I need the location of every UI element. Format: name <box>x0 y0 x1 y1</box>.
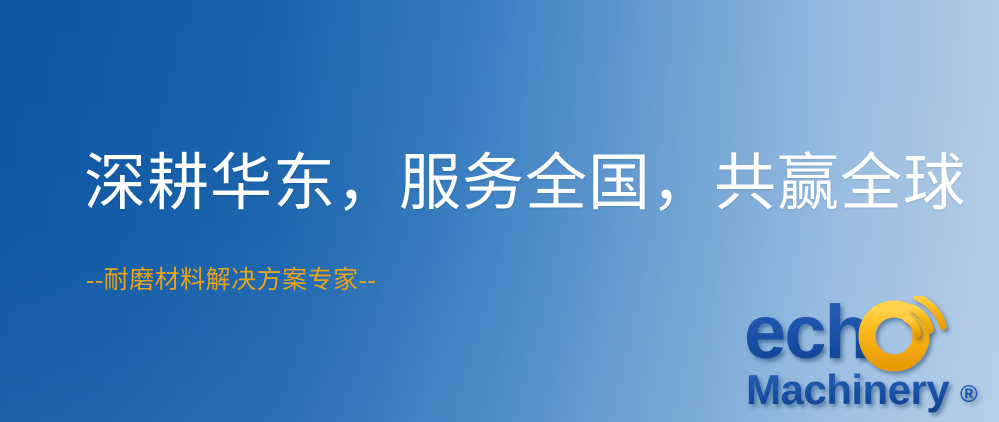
svg-text:Machinery: Machinery <box>746 366 950 413</box>
registered-trademark-icon: ® <box>960 381 978 408</box>
svg-text:®: ® <box>960 381 978 408</box>
logo-tagline: Machinery <box>746 366 950 413</box>
company-logo[interactable]: ech Machinery ® <box>744 296 994 418</box>
page-subtitle: --耐磨材料解决方案专家-- <box>86 266 376 296</box>
hero-banner: 深耕华东，服务全国，共赢全球 --耐磨材料解决方案专家-- <box>0 0 999 422</box>
logo-wordmark-ech: ech <box>744 296 869 375</box>
svg-text:ech: ech <box>744 296 869 375</box>
page-title: 深耕华东，服务全国，共赢全球 <box>84 152 966 217</box>
logo-wordmark-o <box>867 309 921 363</box>
